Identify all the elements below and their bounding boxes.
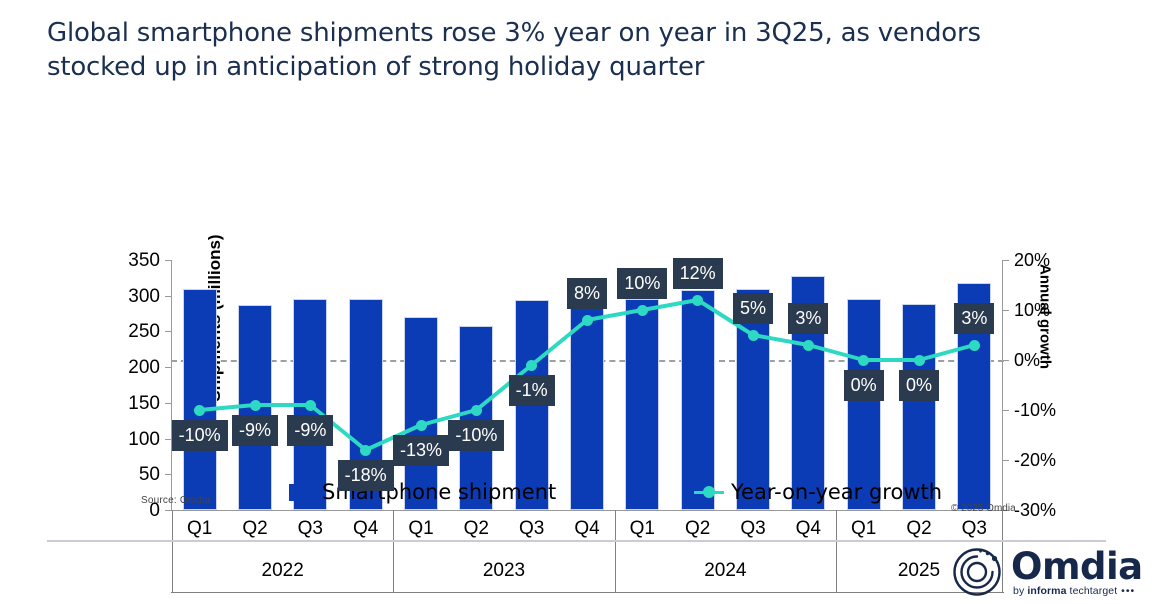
growth-data-point[interactable] bbox=[305, 400, 316, 411]
growth-data-label: 10% bbox=[617, 268, 667, 299]
chart-area: Shipments (millions) Annual growth 05010… bbox=[0, 118, 1153, 528]
left-axis-tick-label: 200 bbox=[100, 358, 160, 377]
x-axis-quarter-label: Q1 bbox=[408, 518, 433, 540]
logo-wordmark: Omdia bbox=[1011, 545, 1143, 588]
x-axis-quarter-label: Q4 bbox=[574, 518, 599, 540]
year-group-separator bbox=[393, 510, 394, 592]
x-axis-quarter-label: Q3 bbox=[519, 518, 544, 540]
left-axis-tick-label: 150 bbox=[100, 394, 160, 413]
left-axis-tick-label: 100 bbox=[100, 430, 160, 449]
growth-data-point[interactable] bbox=[471, 405, 482, 416]
x-axis-year-label: 2023 bbox=[483, 560, 525, 582]
left-axis-tick bbox=[165, 367, 172, 368]
right-axis-tick-label: 10% bbox=[1014, 301, 1084, 319]
x-axis-quarter-label: Q1 bbox=[630, 518, 655, 540]
logo-tagline: by informa techtarget ••• bbox=[1013, 585, 1135, 597]
x-axis-quarter-label: Q1 bbox=[851, 518, 876, 540]
growth-data-label: -1% bbox=[509, 375, 555, 406]
left-axis-tick-label: 250 bbox=[100, 322, 160, 341]
growth-data-label: 8% bbox=[567, 278, 607, 309]
growth-data-label: -9% bbox=[232, 415, 278, 446]
x-axis-quarter-label: Q3 bbox=[962, 518, 987, 540]
growth-data-point[interactable] bbox=[969, 340, 980, 351]
right-axis-tick-label: -10% bbox=[1014, 401, 1084, 419]
growth-data-point[interactable] bbox=[858, 355, 869, 366]
page-title: Global smartphone shipments rose 3% year… bbox=[47, 16, 1067, 84]
left-axis-tick-label: 350 bbox=[100, 251, 160, 270]
growth-data-point[interactable] bbox=[637, 305, 648, 316]
growth-data-label: -18% bbox=[338, 460, 394, 491]
growth-data-label: 3% bbox=[788, 303, 828, 334]
x-axis-quarter-label: Q4 bbox=[796, 518, 821, 540]
right-axis-tick bbox=[1002, 310, 1009, 311]
x-axis-quarter-label: Q1 bbox=[187, 518, 212, 540]
plot-region: Shipments (millions) Annual growth 05010… bbox=[172, 260, 1002, 510]
growth-data-label: 3% bbox=[954, 303, 994, 334]
right-axis-tick bbox=[1002, 410, 1009, 411]
left-axis-tick bbox=[165, 296, 172, 297]
year-group-separator bbox=[836, 510, 837, 592]
x-axis-quarter-label: Q3 bbox=[740, 518, 765, 540]
omdia-swirl-icon bbox=[949, 545, 1005, 597]
right-axis-line bbox=[1002, 260, 1003, 510]
left-axis-tick bbox=[165, 331, 172, 332]
right-axis-tick-label: -20% bbox=[1014, 451, 1084, 469]
right-axis-tick bbox=[1002, 460, 1009, 461]
growth-data-point[interactable] bbox=[194, 405, 205, 416]
year-group-separator bbox=[615, 510, 616, 592]
growth-data-label: 0% bbox=[844, 370, 884, 401]
growth-data-label: 5% bbox=[733, 293, 773, 324]
growth-data-point[interactable] bbox=[526, 360, 537, 371]
left-axis-tick bbox=[165, 260, 172, 261]
footer-divider bbox=[47, 540, 1106, 542]
left-axis-tick bbox=[165, 474, 172, 475]
year-group-separator bbox=[172, 510, 173, 592]
x-axis-quarter-label: Q2 bbox=[906, 518, 931, 540]
x-axis-year-label: 2024 bbox=[704, 560, 746, 582]
x-axis-quarter-label: Q2 bbox=[464, 518, 489, 540]
left-axis-tick bbox=[165, 403, 172, 404]
growth-data-point[interactable] bbox=[692, 295, 703, 306]
growth-data-label: -9% bbox=[287, 415, 333, 446]
growth-data-label: 12% bbox=[673, 258, 723, 289]
category-band-bottom bbox=[171, 592, 1004, 593]
right-axis-tick-label: 0% bbox=[1014, 351, 1084, 369]
growth-data-label: 0% bbox=[899, 370, 939, 401]
growth-data-label: -10% bbox=[448, 420, 504, 451]
growth-data-point[interactable] bbox=[803, 340, 814, 351]
right-axis-tick-label: 20% bbox=[1014, 251, 1084, 269]
left-axis-tick-label: 300 bbox=[100, 287, 160, 306]
x-axis-quarter-label: Q4 bbox=[353, 518, 378, 540]
x-axis-year-label: 2025 bbox=[898, 560, 940, 582]
growth-data-point[interactable] bbox=[416, 420, 427, 431]
x-axis-quarter-label: Q2 bbox=[242, 518, 267, 540]
growth-data-point[interactable] bbox=[582, 315, 593, 326]
omdia-logo: Omdia by informa techtarget ••• bbox=[949, 545, 1149, 601]
x-axis-quarter-label: Q3 bbox=[298, 518, 323, 540]
x-axis-year-label: 2022 bbox=[262, 560, 304, 582]
growth-data-point[interactable] bbox=[250, 400, 261, 411]
growth-data-point[interactable] bbox=[914, 355, 925, 366]
growth-data-point[interactable] bbox=[748, 330, 759, 341]
growth-data-label: -10% bbox=[172, 420, 228, 451]
growth-data-label: -13% bbox=[393, 435, 449, 466]
right-axis-tick bbox=[1002, 260, 1009, 261]
growth-data-point[interactable] bbox=[360, 445, 371, 456]
x-axis-quarter-label: Q2 bbox=[685, 518, 710, 540]
